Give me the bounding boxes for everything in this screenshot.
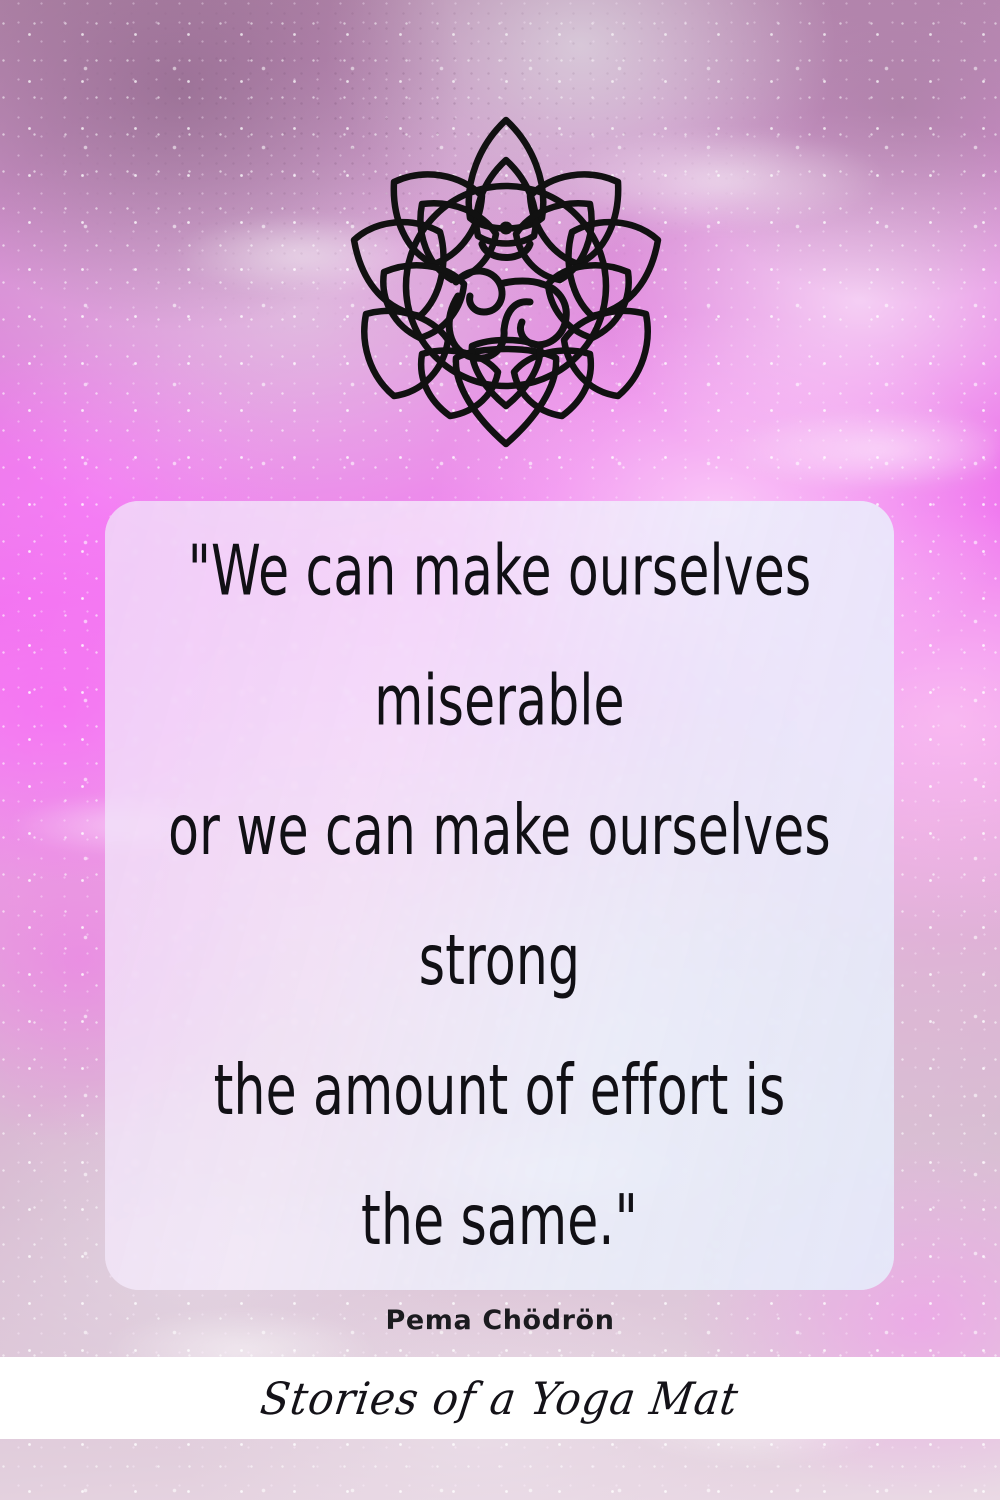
quote-poster: "We can make ourselves miserable or we c… [0, 0, 1000, 1500]
lotus-om-mandala-icon [336, 100, 676, 458]
brand-banner: Stories of a Yoga Mat [0, 1357, 1000, 1439]
quote-card: "We can make ourselves miserable or we c… [105, 501, 894, 1290]
quote-line-1: "We can make ourselves [168, 506, 831, 636]
quote-line-4: strong [168, 896, 831, 1026]
quote-text: "We can make ourselves miserable or we c… [168, 506, 831, 1286]
quote-author: Pema Chödrön [0, 1305, 1000, 1336]
brand-name: Stories of a Yoga Mat [258, 1372, 743, 1424]
quote-line-6: the same." [168, 1155, 831, 1285]
quote-line-3: or we can make ourselves [168, 766, 831, 896]
quote-line-5: the amount of effort is [168, 1025, 831, 1155]
quote-line-2: miserable [168, 636, 831, 766]
lotus-inner-petals [383, 160, 628, 416]
